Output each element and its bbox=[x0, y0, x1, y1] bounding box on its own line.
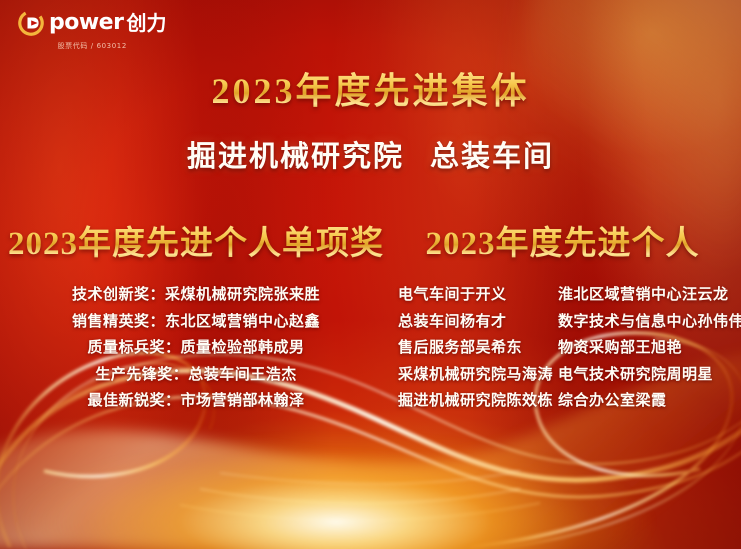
collective-winner-2: 总装车间 bbox=[430, 141, 554, 173]
logo-wordmark-en: power bbox=[49, 10, 123, 36]
section-headings: 2023年度先进个人单项奖 2023年度先进个人 bbox=[0, 216, 741, 264]
list-item: 采煤机械研究院马海涛 电气技术研究院周明星 bbox=[398, 363, 713, 388]
individual-special-award-list: 技术创新奖：采煤机械研究院张来胜 销售精英奖：东北区域营销中心赵鑫 质量标兵奖：… bbox=[0, 283, 392, 414]
winner-name: 数字技术与信息中心孙伟伟 bbox=[558, 310, 741, 335]
winner-columns: 技术创新奖：采煤机械研究院张来胜 销售精英奖：东北区域营销中心赵鑫 质量标兵奖：… bbox=[0, 283, 741, 414]
winner-name: 综合办公室梁霞 bbox=[558, 389, 667, 414]
winner-name: 淮北区域营销中心汪云龙 bbox=[558, 283, 729, 308]
list-item: 掘进机械研究院陈效栋 综合办公室梁霞 bbox=[398, 389, 667, 414]
award-poster: power 创力 股票代码 / 603012 2023年度先进集体 掘进机械研究… bbox=[0, 0, 741, 549]
list-item: 最佳新锐奖：市场营销部林翰泽 bbox=[87, 389, 304, 414]
heading-individual-special-awards: 2023年度先进个人单项奖 bbox=[0, 216, 392, 264]
list-item: 售后服务部吴希东 物资采购部王旭艳 bbox=[398, 336, 682, 361]
winner-name: 总装车间杨有才 bbox=[398, 310, 558, 335]
list-item: 销售精英奖：东北区域营销中心赵鑫 bbox=[72, 310, 320, 335]
advanced-individual-list: 电气车间于开义 淮北区域营销中心汪云龙 总装车间杨有才 数字技术与信息中心孙伟伟… bbox=[392, 283, 741, 414]
winner-name: 采煤机械研究院马海涛 bbox=[398, 363, 558, 388]
winner-name: 电气车间于开义 bbox=[398, 283, 558, 308]
logo-row: power 创力 bbox=[18, 10, 166, 36]
list-item: 技术创新奖：采煤机械研究院张来胜 bbox=[72, 283, 320, 308]
c-power-mark-icon bbox=[18, 10, 44, 36]
list-item: 生产先锋奖：总装车间王浩杰 bbox=[95, 363, 297, 388]
logo-wordmark-cn: 创力 bbox=[126, 10, 166, 36]
winner-name: 电气技术研究院周明星 bbox=[558, 363, 713, 388]
stock-code-label: 股票代码 / 603012 bbox=[18, 41, 166, 51]
heading-advanced-individuals: 2023年度先进个人 bbox=[392, 216, 741, 264]
collective-winner-1: 掘进机械研究院 bbox=[187, 141, 404, 173]
list-item: 质量标兵奖：质量检验部韩成男 bbox=[87, 336, 304, 361]
page-title-collective: 2023年度先进集体 bbox=[0, 62, 741, 114]
collective-winners: 掘进机械研究院总装车间 bbox=[0, 133, 741, 175]
list-item: 总装车间杨有才 数字技术与信息中心孙伟伟 bbox=[398, 310, 741, 335]
list-item: 电气车间于开义 淮北区域营销中心汪云龙 bbox=[398, 283, 729, 308]
winner-name: 物资采购部王旭艳 bbox=[558, 336, 682, 361]
winner-name: 售后服务部吴希东 bbox=[398, 336, 558, 361]
winner-name: 掘进机械研究院陈效栋 bbox=[398, 389, 558, 414]
brand-logo[interactable]: power 创力 股票代码 / 603012 bbox=[18, 10, 166, 51]
